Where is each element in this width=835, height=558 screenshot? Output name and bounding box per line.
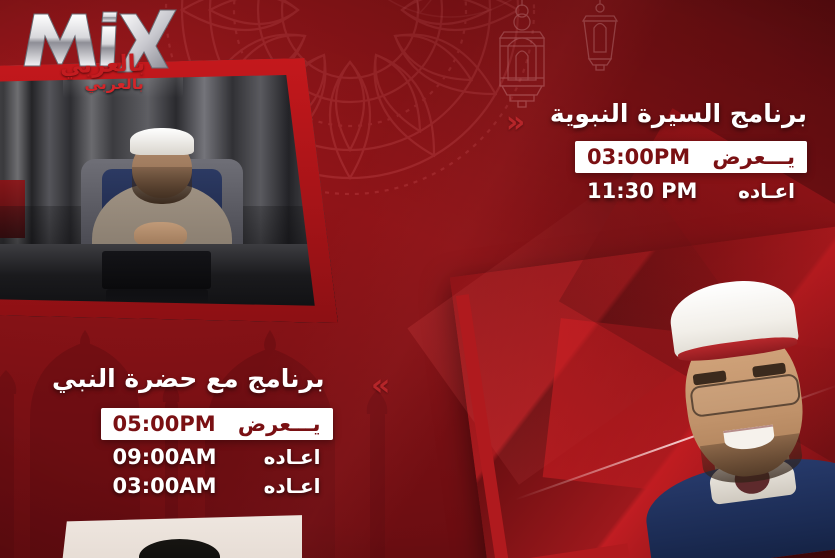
channel-logo[interactable]: [18, 4, 178, 94]
rerun-label: اعـاده: [264, 474, 321, 498]
host-beard: [132, 167, 192, 204]
rerun-time: 09:00AM: [113, 445, 217, 469]
program-title: برنامج مع حضرة النبي: [52, 365, 325, 394]
partial-presenter-hair: [139, 539, 221, 558]
promo-poster: بالعربي: [0, 0, 835, 558]
airing-time-bar[interactable]: يـــعرض 03:00PM: [575, 141, 807, 173]
airing-time: 03:00PM: [587, 145, 690, 169]
rerun-row: اعـاده 03:00AM: [101, 474, 333, 498]
chevron-right-icon: «: [371, 371, 390, 401]
studio-scene: بالعربي: [0, 58, 338, 323]
program-block-seera-nabawiya: « برنامج السيرة النبوية يـــعرض 03:00PM …: [550, 100, 807, 203]
airing-label: يـــعرض: [238, 412, 321, 436]
rerun-row: اعـاده 09:00AM: [101, 445, 333, 469]
host-cap: [130, 128, 193, 155]
program-block-maa-hadrat-al-naby: « برنامج مع حضرة النبي يـــعرض 05:00PM ا…: [52, 365, 343, 498]
studio-laptop: [102, 251, 211, 288]
rerun-row: اعـاده 11:30 PM: [575, 179, 807, 203]
mandala-ornament-secondary-icon: [300, 0, 600, 50]
studio-laptop-reflection: [106, 289, 208, 316]
rerun-label: اعـاده: [738, 179, 795, 203]
studio-host-photo: بالعربي: [0, 58, 338, 323]
airing-label: يـــعرض: [712, 145, 795, 169]
rerun-label: اعـاده: [264, 445, 321, 469]
ramadan-lantern-icon: [470, 0, 660, 114]
chevron-left-icon: «: [506, 108, 525, 138]
airing-time: 05:00PM: [113, 412, 216, 436]
partial-presenter-photo: [62, 512, 302, 558]
presenter-portrait-photo: [450, 225, 835, 558]
presenter-figure: [599, 245, 835, 558]
channel-logo-subtitle: بالعربي: [60, 51, 146, 80]
rerun-time: 11:30 PM: [587, 179, 697, 203]
airing-time-bar[interactable]: يـــعرض 05:00PM: [101, 408, 333, 440]
rerun-time: 03:00AM: [113, 474, 217, 498]
program-title: برنامج السيرة النبوية: [550, 100, 807, 129]
